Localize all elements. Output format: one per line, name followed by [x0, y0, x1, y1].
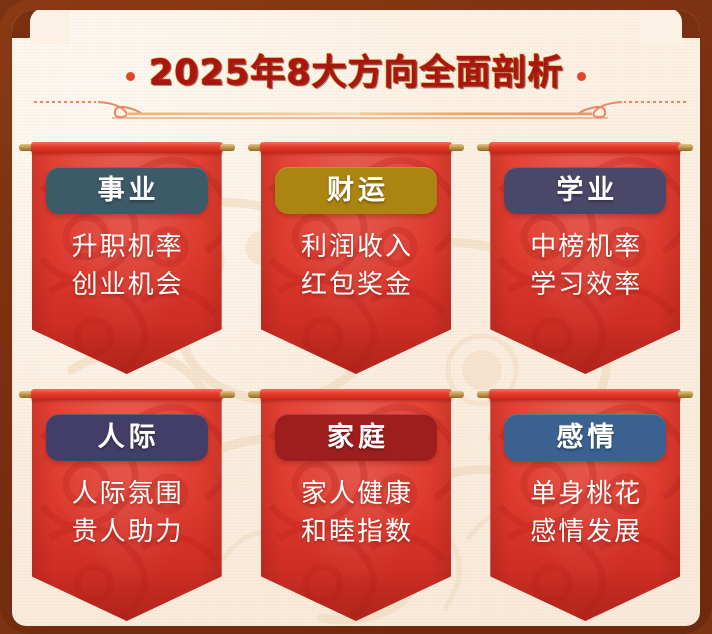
ornament-divider — [16, 96, 700, 122]
banner-line-2: 创业机会 — [32, 266, 222, 304]
rod-bar — [31, 142, 223, 153]
banner-lines: 升职机率 创业机会 — [32, 228, 222, 305]
rod-cap-right-icon — [678, 144, 693, 151]
rod-bar — [489, 389, 681, 400]
banner-grid: 事业 升职机率 创业机会 — [12, 142, 700, 626]
banner-rod — [19, 389, 235, 400]
page-title: 2025年8大方向全面剖析 — [12, 44, 700, 95]
banner-lines: 中榜机率 学习效率 — [490, 228, 680, 305]
rod-cap-right-icon — [220, 391, 235, 398]
rod-bar — [260, 389, 452, 400]
banner-relationship[interactable]: 感情 单身桃花 感情发展 — [490, 389, 680, 621]
badge-label: 感情 — [552, 424, 618, 451]
banner-study[interactable]: 学业 中榜机率 学习效率 — [490, 142, 680, 374]
banner-career[interactable]: 事业 升职机率 创业机会 — [32, 142, 222, 374]
banner-line-1: 利润收入 — [261, 228, 451, 266]
badge-label: 财运 — [323, 177, 389, 204]
banner-rod — [248, 142, 464, 153]
paper-background: 2025年8大方向全面剖析 — [12, 10, 700, 626]
banner-line-1: 中榜机率 — [490, 228, 680, 266]
banner-line-1: 升职机率 — [32, 228, 222, 266]
banner-line-2: 和睦指数 — [261, 513, 451, 551]
banner-badge: 财运 — [275, 167, 437, 214]
banner-lines: 家人健康 和睦指数 — [261, 475, 451, 552]
banner-family[interactable]: 家庭 家人健康 和睦指数 — [261, 389, 451, 621]
banner-line-2: 红包奖金 — [261, 266, 451, 304]
badge-label: 家庭 — [323, 424, 389, 451]
banner-rod — [19, 142, 235, 153]
rod-bar — [260, 142, 452, 153]
banner-lines: 人际氛围 贵人助力 — [32, 475, 222, 552]
title-text: 2025年8大方向全面剖析 — [149, 44, 564, 95]
banner-line-1: 家人健康 — [261, 475, 451, 513]
banner-badge: 家庭 — [275, 414, 437, 461]
badge-label: 事业 — [94, 177, 160, 204]
banner-badge: 感情 — [504, 414, 666, 461]
title-dot-left-icon — [126, 72, 135, 81]
banner-line-2: 贵人助力 — [32, 513, 222, 551]
banner-line-1: 单身桃花 — [490, 475, 680, 513]
banner-line-1: 人际氛围 — [32, 475, 222, 513]
badge-label: 学业 — [552, 177, 618, 204]
rod-bar — [31, 389, 223, 400]
rod-cap-right-icon — [220, 144, 235, 151]
banner-rod — [477, 142, 693, 153]
rod-bar — [489, 142, 681, 153]
title-dot-right-icon — [577, 72, 586, 81]
rod-cap-right-icon — [449, 391, 464, 398]
rod-cap-right-icon — [449, 144, 464, 151]
rod-cap-right-icon — [678, 391, 693, 398]
banner-line-2: 学习效率 — [490, 266, 680, 304]
poster-root: 2025年8大方向全面剖析 — [0, 0, 712, 634]
banner-line-2: 感情发展 — [490, 513, 680, 551]
banner-badge: 事业 — [46, 167, 208, 214]
corner-notch-fill-left — [30, 10, 70, 44]
banner-wealth[interactable]: 财运 利润收入 红包奖金 — [261, 142, 451, 374]
banner-interpersonal[interactable]: 人际 人际氛围 贵人助力 — [32, 389, 222, 621]
banner-badge: 学业 — [504, 167, 666, 214]
banner-lines: 单身桃花 感情发展 — [490, 475, 680, 552]
banner-rod — [477, 389, 693, 400]
corner-notch-fill-right — [642, 10, 682, 44]
banner-badge: 人际 — [46, 414, 208, 461]
badge-label: 人际 — [94, 424, 160, 451]
banner-rod — [248, 389, 464, 400]
banner-lines: 利润收入 红包奖金 — [261, 228, 451, 305]
